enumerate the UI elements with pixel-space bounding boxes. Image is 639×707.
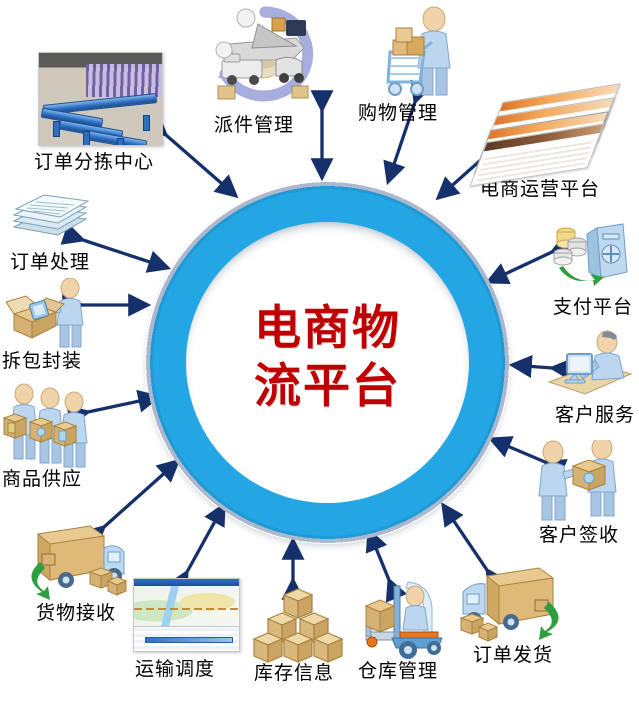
shopping-cart-person-icon (376, 6, 462, 102)
node-payment-platform[interactable]: 支付平台 (549, 222, 633, 319)
node-label: 客户签收 (539, 524, 629, 547)
logistics-platform-diagram: 电商物 流平台 订单分拣中心 (0, 0, 639, 707)
node-label: 拆包封装 (2, 350, 98, 373)
node-label: 运输调度 (135, 658, 240, 681)
node-warehouse-management[interactable]: 仓库管理 (350, 576, 450, 683)
gis-map-window-icon (133, 578, 240, 652)
truck-inbound-icon (22, 520, 132, 602)
node-dispatch-management[interactable]: 派件管理 (200, 2, 330, 137)
document-stack-icon (10, 193, 96, 247)
node-transport-scheduling[interactable]: 运输调度 (133, 578, 240, 681)
node-inventory-information[interactable]: 库存信息 (252, 586, 344, 685)
node-label: 库存信息 (254, 662, 344, 685)
two-people-parcel-icon (533, 440, 629, 522)
truck-outbound-icon (457, 562, 567, 644)
node-customer-service[interactable]: 客户服务 (545, 330, 635, 427)
delivery-cycle-icon (200, 2, 330, 112)
node-label: 订单发货 (473, 644, 567, 667)
node-order-sorting-center[interactable]: 订单分拣中心 (38, 52, 163, 174)
forklift-icon (350, 576, 450, 660)
node-product-supply[interactable]: 商品供应 (2, 382, 98, 491)
node-label: 仓库管理 (358, 660, 450, 683)
person-opening-box-icon (4, 278, 98, 350)
node-ecommerce-operations-platform[interactable]: 电商运营平台 (478, 92, 618, 201)
page-title: 电商物 流平台 (205, 300, 450, 416)
node-shopping-management[interactable]: 购物管理 (376, 6, 462, 125)
node-customer-signoff[interactable]: 客户签收 (533, 440, 629, 547)
three-people-parcels-icon (2, 382, 98, 468)
node-order-processing[interactable]: 订单处理 (10, 193, 96, 274)
node-label: 客户服务 (555, 404, 635, 427)
conveyor-icon (38, 52, 163, 146)
node-label: 订单分拣中心 (34, 151, 163, 174)
node-label: 购物管理 (358, 102, 462, 125)
stacked-boxes-icon (252, 586, 344, 664)
node-label: 货物接收 (36, 602, 132, 625)
agent-desk-computer-icon (545, 330, 635, 402)
web-pages-stack-icon (478, 92, 618, 170)
node-label: 支付平台 (553, 296, 633, 319)
node-label: 派件管理 (214, 114, 330, 137)
node-label: 订单处理 (10, 251, 96, 274)
node-unpack-and-pack[interactable]: 拆包封装 (4, 278, 98, 373)
node-order-shipping[interactable]: 订单发货 (457, 562, 567, 667)
coins-safe-icon (549, 222, 633, 292)
node-label: 商品供应 (2, 468, 98, 491)
node-goods-receiving[interactable]: 货物接收 (22, 520, 132, 625)
